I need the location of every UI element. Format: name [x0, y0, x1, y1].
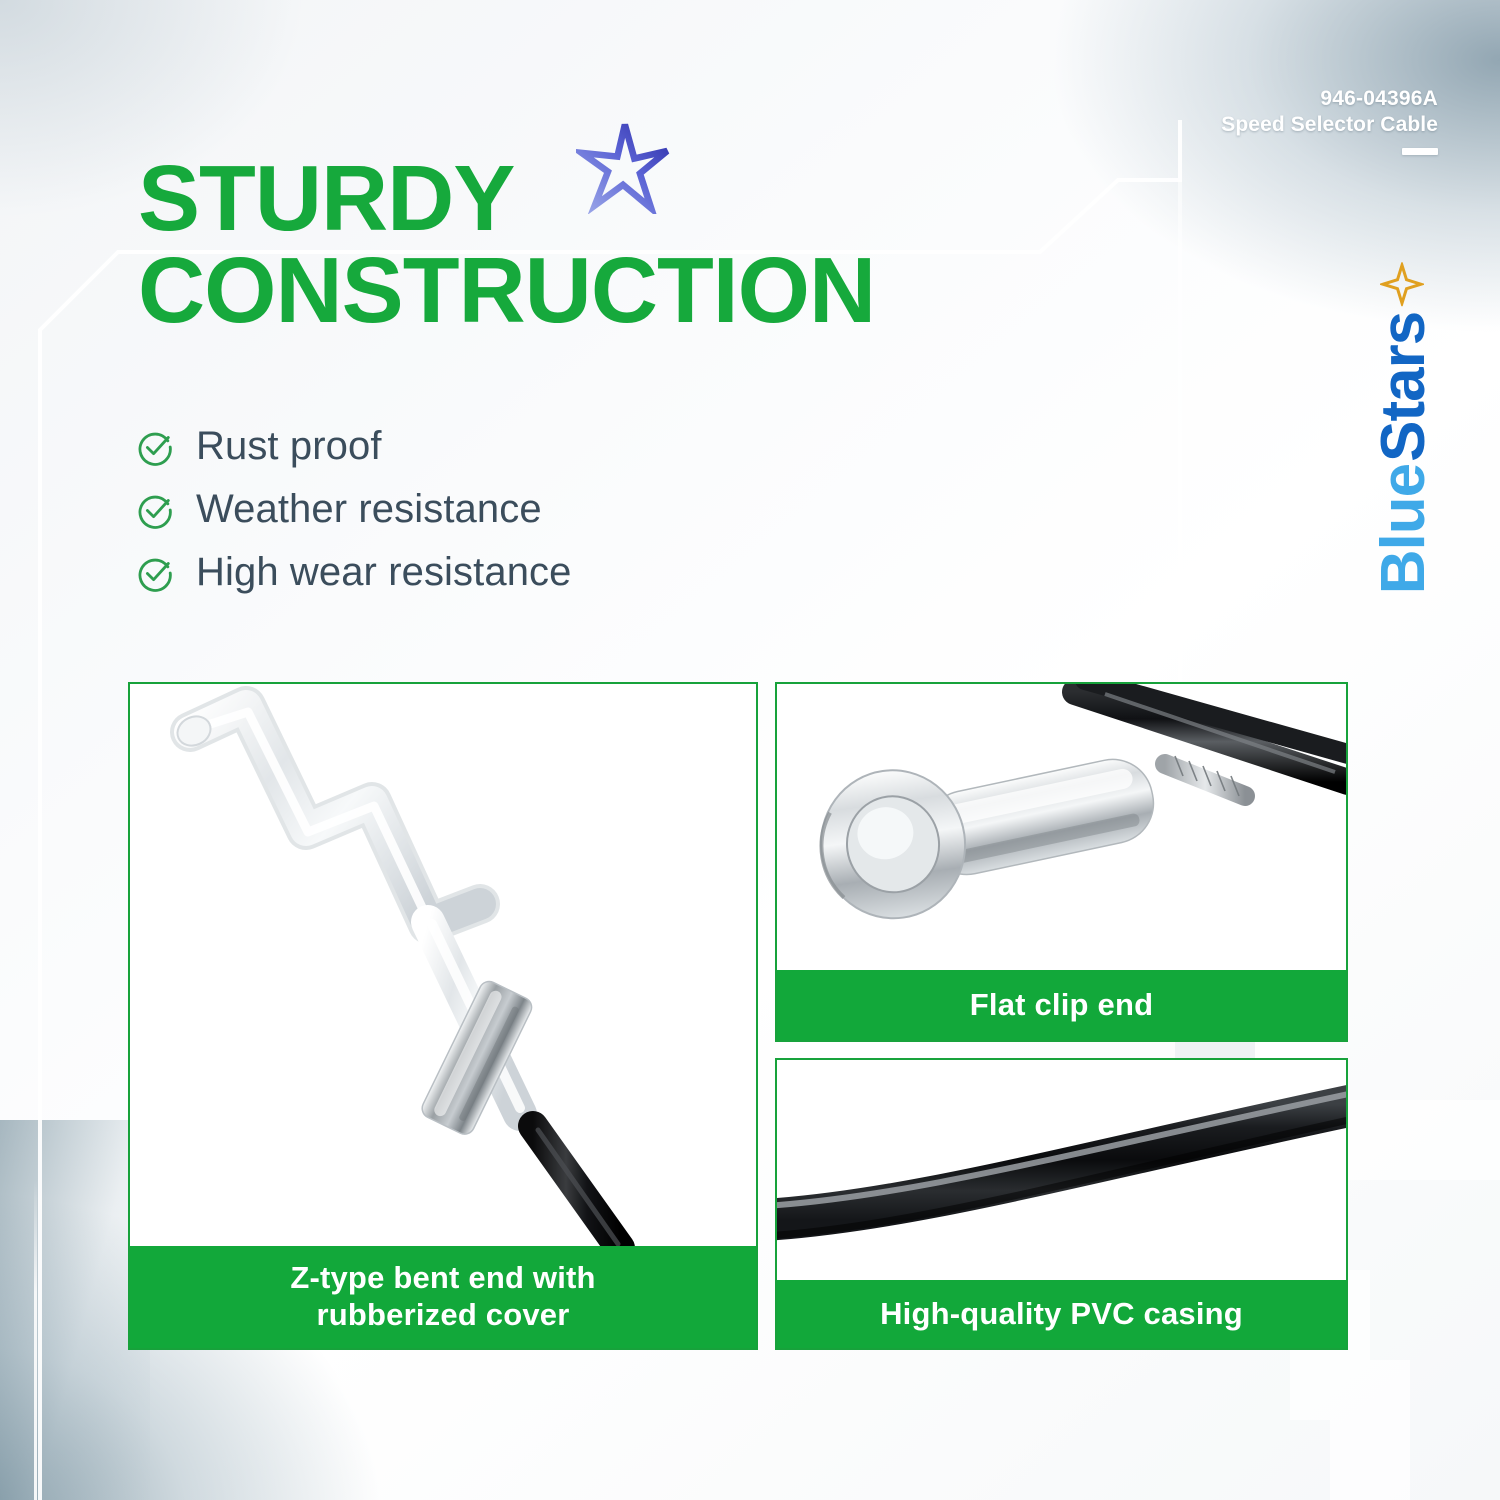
caption-line-2: rubberized cover	[290, 1297, 595, 1334]
circle-check-icon	[136, 428, 174, 466]
caption-line-1: Z-type bent end with	[290, 1260, 595, 1297]
feature-label: Weather resistance	[196, 487, 542, 532]
list-item: High wear resistance	[136, 550, 856, 595]
z-type-bent-end-photo	[130, 684, 756, 1248]
headline-line-2: CONSTRUCTION	[138, 244, 1098, 336]
product-card-flat-clip-end: Flat clip end	[775, 682, 1348, 1042]
circle-check-icon	[136, 554, 174, 592]
part-number: 946-04396A	[1221, 86, 1438, 112]
page-title: STURDY CONSTRUCTION	[138, 152, 1098, 336]
product-name: Speed Selector Cable	[1221, 112, 1438, 138]
brand-name-blue: Blue	[1373, 464, 1435, 594]
circle-check-icon	[136, 491, 174, 529]
poster-canvas: 946-04396A Speed Selector Cable BlueStar…	[0, 0, 1500, 1500]
pvc-casing-photo	[777, 1060, 1346, 1282]
feature-label: Rust proof	[196, 424, 382, 469]
card-caption-z-bent-end: Z-type bent end with rubberized cover	[130, 1246, 756, 1348]
card-caption-pvc-casing: High-quality PVC casing	[777, 1280, 1346, 1348]
headline-line-1: STURDY	[138, 146, 514, 250]
brand-logo: BlueStars	[1352, 228, 1456, 628]
brand-name-stars: Stars	[1373, 312, 1435, 462]
list-item: Weather resistance	[136, 487, 856, 532]
background-hairline	[34, 1180, 37, 1500]
feature-label: High wear resistance	[196, 550, 572, 595]
header-divider-dash	[1402, 148, 1438, 155]
flat-clip-end-photo	[777, 684, 1346, 972]
product-card-z-bent-end: Z-type bent end with rubberized cover	[128, 682, 758, 1350]
four-point-star-icon	[1373, 262, 1435, 306]
list-item: Rust proof	[136, 424, 856, 469]
product-card-pvc-casing: High-quality PVC casing	[775, 1058, 1348, 1350]
card-caption-flat-clip-end: Flat clip end	[777, 970, 1346, 1040]
feature-list: Rust proof Weather resistance High wear …	[136, 424, 856, 613]
header-meta: 946-04396A Speed Selector Cable	[1221, 86, 1438, 139]
